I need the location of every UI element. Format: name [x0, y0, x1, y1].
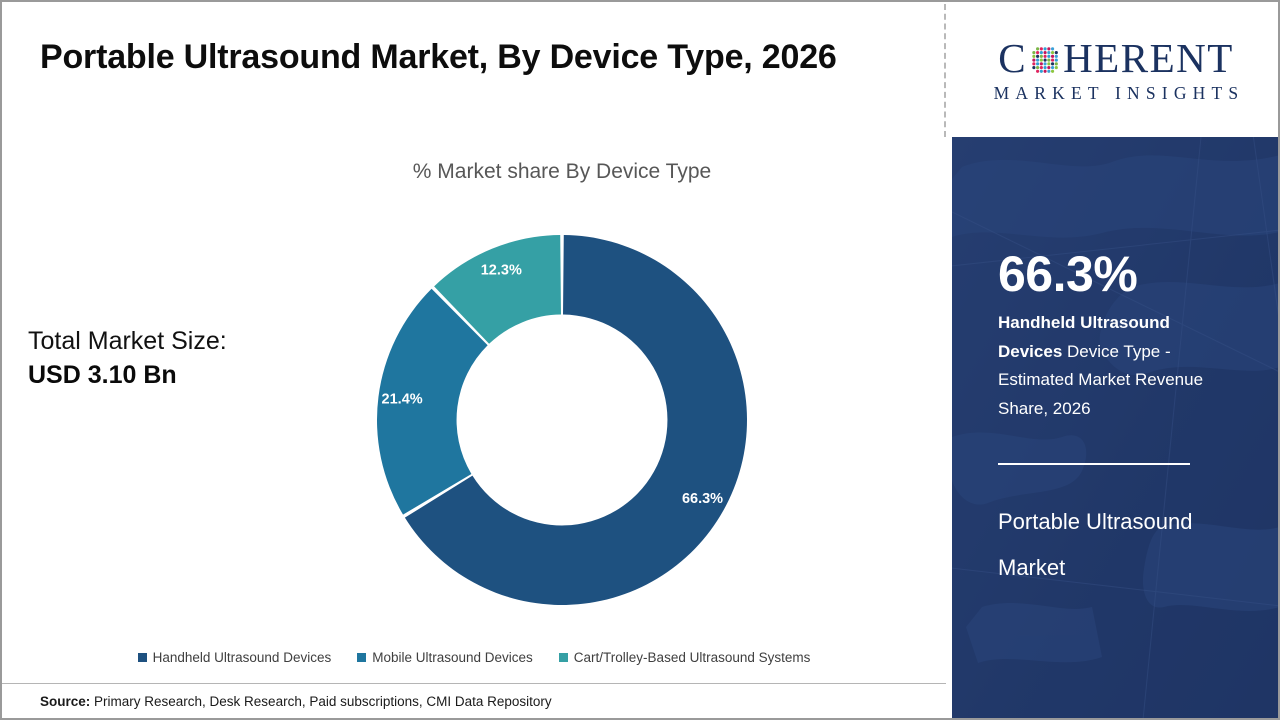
highlight-panel: 66.3% Handheld Ultrasound Devices Device… — [952, 137, 1280, 720]
globe-dot — [1051, 47, 1054, 50]
globe-dot — [1036, 70, 1039, 73]
globe-dot — [1036, 55, 1039, 58]
infographic-page: Portable Ultrasound Market, By Device Ty… — [0, 0, 1280, 720]
brand-logo: C HERENT MARKET INSIGHTS — [952, 4, 1280, 137]
globe-dot — [1055, 66, 1058, 69]
globe-dot — [1044, 70, 1047, 73]
globe-dot — [1044, 55, 1047, 58]
donut-chart-svg: 66.3%21.4%12.3% — [377, 235, 747, 605]
legend-item[interactable]: Handheld Ultrasound Devices — [138, 650, 332, 665]
globe-dots-icon — [1028, 43, 1062, 77]
stat-percent: 66.3% — [998, 249, 1137, 299]
globe-dot — [1032, 66, 1035, 69]
globe-dot — [1040, 51, 1043, 54]
globe-dot — [1032, 59, 1035, 62]
globe-dot — [1044, 62, 1047, 65]
globe-dot — [1036, 62, 1039, 65]
globe-dot — [1055, 51, 1058, 54]
logo-wordmark: C HERENT — [998, 38, 1234, 79]
logo-tagline: MARKET INSIGHTS — [988, 83, 1245, 104]
total-market-size-value: USD 3.10 Bn — [28, 358, 328, 392]
globe-dot — [1051, 55, 1054, 58]
legend-item[interactable]: Cart/Trolley-Based Ultrasound Systems — [559, 650, 811, 665]
globe-dot — [1051, 59, 1054, 62]
chart-legend: Handheld Ultrasound DevicesMobile Ultras… — [2, 650, 946, 665]
market-name: Portable Ultrasound Market — [998, 499, 1228, 590]
globe-dot — [1040, 70, 1043, 73]
globe-dot — [1047, 55, 1050, 58]
globe-dot — [1040, 55, 1043, 58]
total-market-size-block: Total Market Size: USD 3.10 Bn — [28, 324, 328, 392]
source-text: Primary Research, Desk Research, Paid su… — [90, 694, 551, 709]
legend-swatch-icon — [357, 653, 366, 662]
globe-dot — [1044, 47, 1047, 50]
source-line: Source: Primary Research, Desk Research,… — [40, 694, 552, 709]
globe-dot — [1051, 70, 1054, 73]
stat-description: Handheld Ultrasound Devices Device Type … — [998, 309, 1224, 423]
globe-dot — [1055, 59, 1058, 62]
globe-dot — [1032, 62, 1035, 65]
globe-dot — [1040, 62, 1043, 65]
donut-slice-label: 12.3% — [481, 263, 522, 279]
chart-subtitle: % Market share By Device Type — [302, 160, 822, 184]
globe-dot — [1051, 62, 1054, 65]
globe-dot — [1036, 47, 1039, 50]
donut-slice-label: 21.4% — [382, 392, 423, 408]
donut-slice-group — [377, 235, 747, 605]
source-label: Source: — [40, 694, 90, 709]
vertical-dashed-divider — [944, 4, 946, 137]
globe-dot — [1047, 51, 1050, 54]
globe-dot — [1036, 51, 1039, 54]
total-market-size-label: Total Market Size: — [28, 324, 328, 358]
globe-dot — [1047, 62, 1050, 65]
globe-dot — [1040, 47, 1043, 50]
globe-dot — [1044, 59, 1047, 62]
globe-dot — [1051, 51, 1054, 54]
globe-dot — [1044, 66, 1047, 69]
globe-dot — [1055, 62, 1058, 65]
legend-label: Mobile Ultrasound Devices — [372, 650, 533, 665]
globe-dot — [1040, 59, 1043, 62]
logo-letter-c: C — [998, 38, 1027, 79]
donut-chart: 66.3%21.4%12.3% — [377, 235, 747, 605]
globe-dot — [1044, 51, 1047, 54]
page-title: Portable Ultrasound Market, By Device Ty… — [40, 32, 870, 82]
legend-swatch-icon — [559, 653, 568, 662]
left-content-panel: Portable Ultrasound Market, By Device Ty… — [2, 2, 946, 720]
globe-dot — [1032, 55, 1035, 58]
globe-dot — [1036, 66, 1039, 69]
globe-dot — [1047, 59, 1050, 62]
highlight-panel-divider — [998, 463, 1190, 465]
globe-dot — [1047, 66, 1050, 69]
globe-dot — [1051, 66, 1054, 69]
legend-swatch-icon — [138, 653, 147, 662]
legend-label: Handheld Ultrasound Devices — [153, 650, 332, 665]
globe-dot — [1055, 55, 1058, 58]
globe-dot — [1040, 66, 1043, 69]
legend-item[interactable]: Mobile Ultrasound Devices — [357, 650, 533, 665]
globe-dot — [1032, 51, 1035, 54]
legend-label: Cart/Trolley-Based Ultrasound Systems — [574, 650, 811, 665]
donut-slice-label: 66.3% — [682, 491, 723, 507]
globe-dot — [1036, 59, 1039, 62]
footer-divider — [2, 683, 946, 684]
logo-letters-herent: HERENT — [1063, 38, 1234, 79]
highlight-panel-content: 66.3% Handheld Ultrasound Devices Device… — [998, 137, 1248, 720]
globe-dot — [1047, 70, 1050, 73]
globe-dot — [1047, 47, 1050, 50]
